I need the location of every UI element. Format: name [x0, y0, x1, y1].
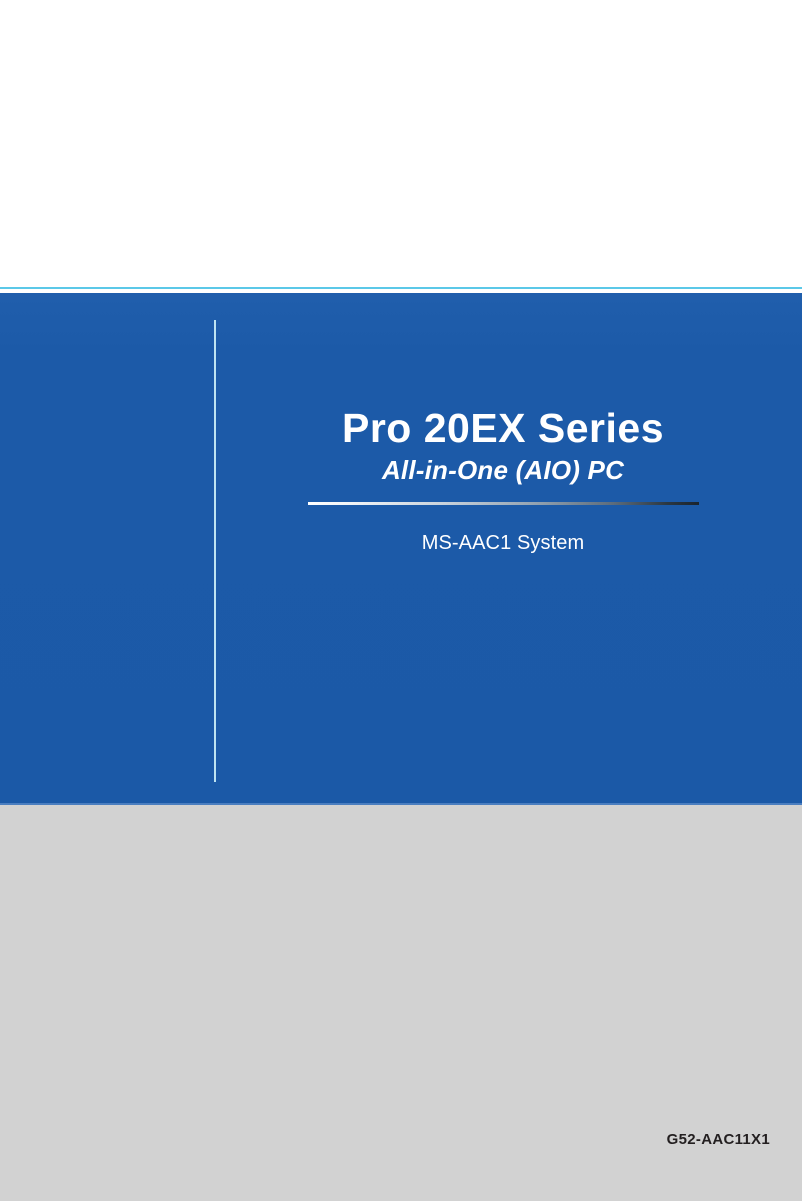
- vertical-divider-line: [214, 320, 216, 782]
- system-name: MS-AAC1 System: [253, 530, 753, 556]
- cover-page: Pro 20EX Series All-in-One (AIO) PC MS-A…: [0, 0, 802, 1201]
- top-white-area: [0, 0, 802, 287]
- gradient-divider-rule: [308, 502, 699, 505]
- product-title: Pro 20EX Series: [253, 404, 753, 452]
- product-subtitle: All-in-One (AIO) PC: [253, 454, 753, 486]
- part-number: G52-AAC11X1: [667, 1131, 770, 1148]
- cover-title-block: Pro 20EX Series All-in-One (AIO) PC MS-A…: [253, 404, 753, 556]
